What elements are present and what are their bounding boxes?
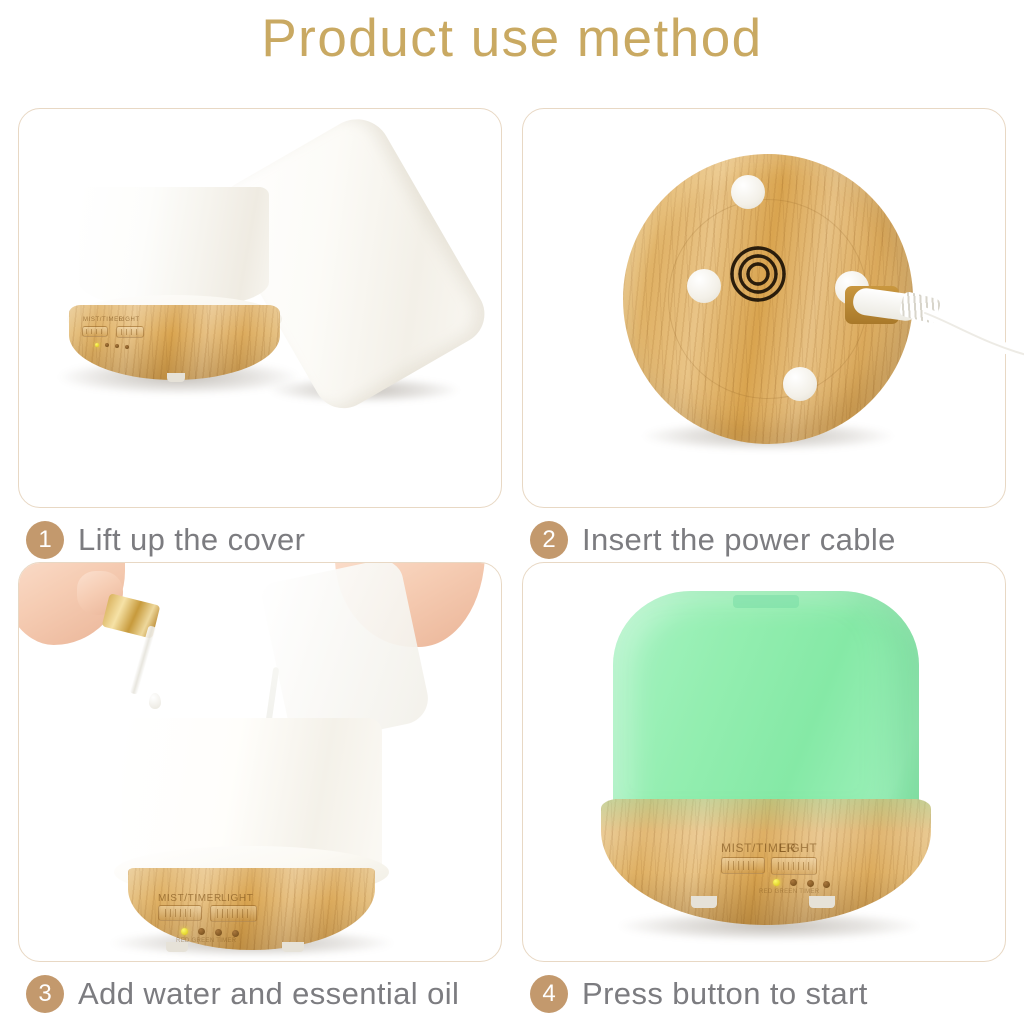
rubber-foot (166, 942, 188, 952)
scene-add-water-oil: MIST/TIMER LIGHT RED GREEN TIMER (19, 563, 501, 961)
step-3-caption: 3 Add water and essential oil (26, 966, 459, 1022)
scene-press-button: MIST/TIMER LIGHT RED GREEN TIMER (523, 563, 1005, 961)
mist-timer-button[interactable] (158, 905, 202, 921)
fan-vent-icon (719, 235, 797, 313)
led-indicator (198, 928, 205, 935)
step-caption-text: Add water and essential oil (78, 976, 459, 1012)
rubber-foot (687, 269, 721, 303)
rubber-foot (691, 896, 717, 908)
step-card-4: MIST/TIMER LIGHT RED GREEN TIMER 4 Press… (522, 562, 1006, 962)
mist-outlet (733, 595, 799, 608)
mist-timer-label: MIST/TIMER (158, 893, 222, 904)
step-card-1: MIST/TIMER LIGHT 1 Lift up the cover (18, 108, 502, 508)
led-indicator (790, 879, 797, 886)
led-indicator (181, 928, 188, 935)
light-button[interactable] (210, 905, 257, 922)
led-indicator (807, 880, 814, 887)
led-indicator (105, 343, 109, 347)
led-indicator (215, 929, 222, 936)
led-indicator (823, 881, 830, 888)
water-tank (79, 187, 269, 309)
rubber-foot (783, 367, 817, 401)
step-2-caption: 2 Insert the power cable (530, 512, 896, 568)
step-number-badge: 4 (530, 975, 568, 1013)
diffuser-base-unit: MIST/TIMER LIGHT (67, 187, 282, 377)
step-card-2: 2 Insert the power cable (522, 108, 1006, 508)
led-indicator (115, 344, 119, 348)
led-caption: RED GREEN TIMER (759, 889, 819, 895)
step-number-badge: 1 (26, 521, 64, 559)
step-3-image-frame: MIST/TIMER LIGHT RED GREEN TIMER (18, 562, 502, 962)
wood-base (601, 799, 931, 925)
light-button[interactable] (771, 857, 817, 875)
mist-timer-label: MIST/TIMER (83, 317, 124, 323)
diffuser-assembled: MIST/TIMER LIGHT RED GREEN TIMER (601, 591, 931, 913)
step-2-image-frame (522, 108, 1006, 508)
step-4-caption: 4 Press button to start (530, 966, 868, 1022)
page-title: Product use method (0, 8, 1024, 69)
steps-grid: MIST/TIMER LIGHT 1 Lift up the cover (0, 100, 1024, 1024)
light-label: LIGHT (221, 893, 253, 904)
wood-shading (601, 799, 931, 925)
step-number-badge: 3 (26, 975, 64, 1013)
diffuser-base-unit: MIST/TIMER LIGHT RED GREEN TIMER (114, 718, 389, 948)
light-button[interactable] (116, 326, 144, 338)
scene-insert-cable (523, 109, 1005, 507)
step-card-3: MIST/TIMER LIGHT RED GREEN TIMER 3 Add w… (18, 562, 502, 962)
step-1-image-frame: MIST/TIMER LIGHT (18, 108, 502, 508)
step-1-caption: 1 Lift up the cover (26, 512, 305, 568)
mist-timer-button[interactable] (82, 326, 108, 337)
step-caption-text: Lift up the cover (78, 522, 305, 558)
led-indicator (773, 879, 780, 886)
rubber-foot (809, 896, 835, 908)
mist-timer-button[interactable] (721, 857, 765, 874)
step-caption-text: Press button to start (582, 976, 868, 1012)
rubber-foot (167, 373, 185, 382)
light-label: LIGHT (119, 317, 140, 323)
step-number-badge: 2 (530, 521, 568, 559)
led-indicator (232, 930, 239, 937)
oil-droplet (149, 693, 161, 709)
step-caption-text: Insert the power cable (582, 522, 896, 558)
led-indicator (95, 343, 99, 347)
step-4-image-frame: MIST/TIMER LIGHT RED GREEN TIMER (522, 562, 1006, 962)
power-cable (923, 305, 1024, 367)
light-label: LIGHT (779, 841, 817, 855)
rubber-foot (282, 942, 304, 952)
rubber-foot (731, 175, 765, 209)
scene-lift-cover: MIST/TIMER LIGHT (19, 109, 501, 507)
led-indicator (125, 345, 129, 349)
